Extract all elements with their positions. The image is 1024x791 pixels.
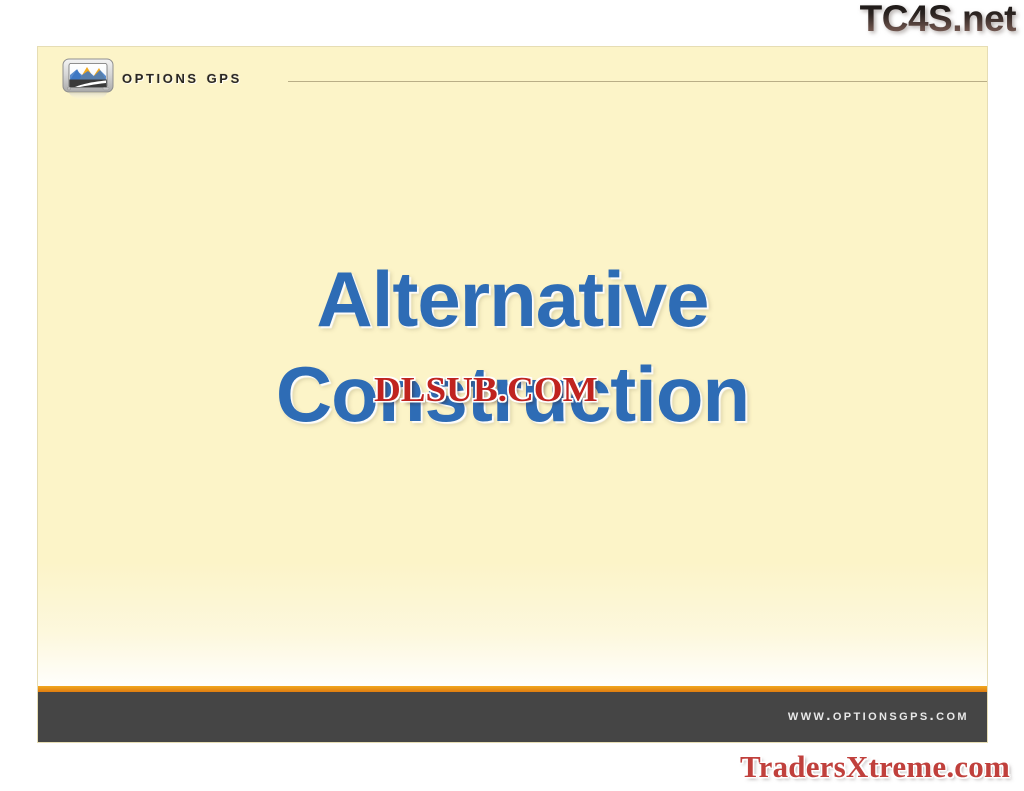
gps-device-icon — [61, 57, 117, 101]
page-title: Alternative Construction — [93, 252, 932, 442]
footer-website-url: www.OptionsGPS.com — [788, 707, 969, 724]
slide-header: Options GPS — [38, 47, 987, 109]
watermark-tradersxtreme-com: TradersXtreme.com — [740, 749, 1010, 785]
slide-background-gradient — [38, 562, 987, 692]
brand-title: Options GPS — [122, 67, 242, 89]
slide-footer: www.OptionsGPS.com — [38, 692, 987, 742]
watermark-dlsub-com: DLSUB.COM — [374, 370, 598, 410]
watermark-tc4s-net: TC4S.net — [860, 0, 1016, 39]
header-divider-rule — [288, 81, 987, 82]
title-line-1: Alternative — [93, 252, 932, 347]
